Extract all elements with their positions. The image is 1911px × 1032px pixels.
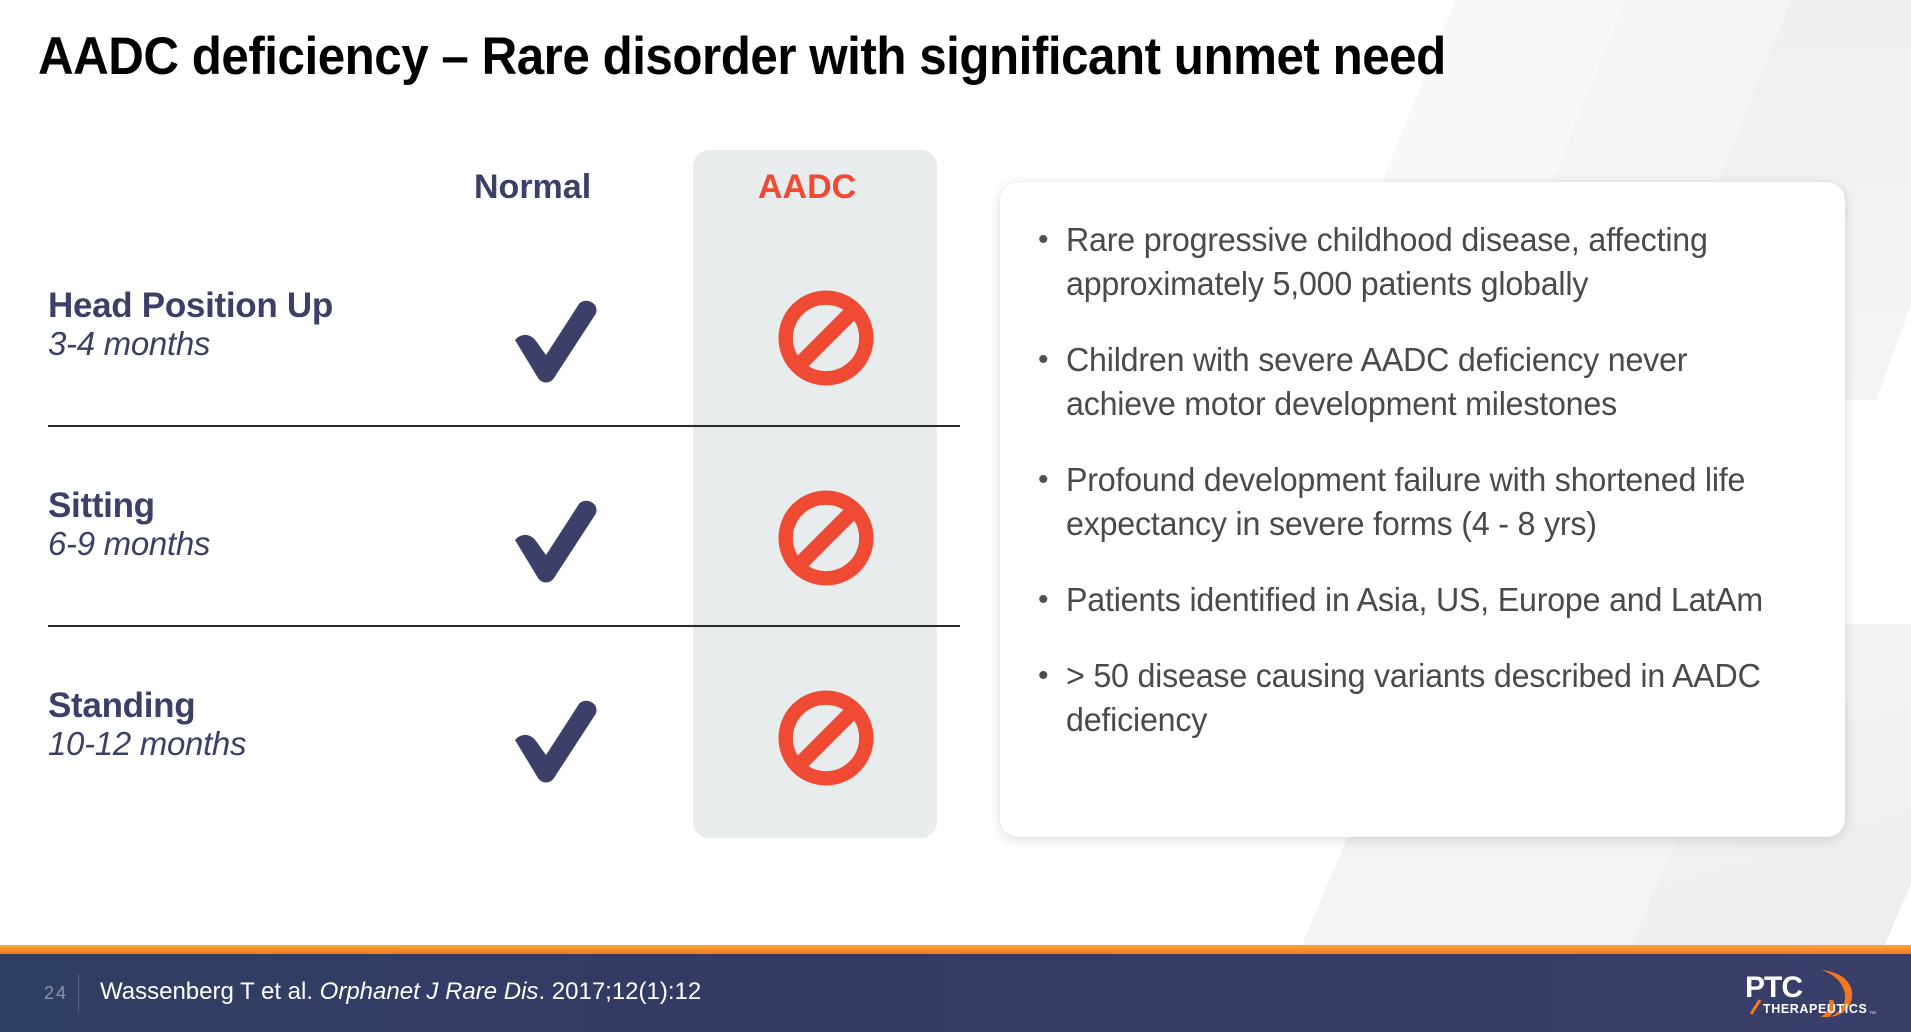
bullet-dot-icon: •: [1038, 338, 1066, 382]
bullet-dot-icon: •: [1038, 218, 1066, 262]
milestone-name: Sitting: [48, 486, 210, 525]
svg-text:™: ™: [1869, 1011, 1876, 1018]
row-divider: [48, 625, 960, 627]
milestone-age: 6-9 months: [48, 525, 210, 564]
row-label-group: Standing 10-12 months: [48, 686, 246, 764]
citation-authors: Wassenberg T et al.: [100, 978, 320, 1005]
milestone-table: Normal AADC Head Position Up 3-4 months …: [0, 150, 1000, 870]
slide-number: 24: [44, 983, 68, 1004]
bullet-text: Patients identified in Asia, US, Europe …: [1066, 578, 1763, 622]
orange-accent-bar: [0, 945, 1911, 954]
bullet-text: > 50 disease causing variants described …: [1066, 654, 1787, 742]
row-label-group: Sitting 6-9 months: [48, 486, 210, 564]
row-divider: [48, 425, 960, 427]
list-item: • Rare progressive childhood disease, af…: [1038, 218, 1805, 306]
citation-journal: Orphanet J Rare Dis: [320, 978, 539, 1005]
slide-title: AADC deficiency – Rare disorder with sig…: [38, 26, 1446, 87]
slide-number-separator: [78, 974, 79, 1012]
table-row: Sitting 6-9 months: [0, 438, 1000, 638]
bullet-text: Profound development failure with shorte…: [1066, 458, 1787, 546]
bullet-dot-icon: •: [1038, 654, 1066, 698]
bullet-list: • Rare progressive childhood disease, af…: [1038, 218, 1805, 742]
bullet-text: Rare progressive childhood disease, affe…: [1066, 218, 1787, 306]
ptc-therapeutics-logo: PTC THERAPEUTICS ™: [1729, 964, 1889, 1024]
milestone-age: 3-4 months: [48, 325, 333, 364]
table-row: Standing 10-12 months: [0, 638, 1000, 838]
milestone-name: Head Position Up: [48, 286, 333, 325]
column-header-normal: Normal: [474, 168, 591, 207]
row-label-group: Head Position Up 3-4 months: [48, 286, 333, 364]
milestone-name: Standing: [48, 686, 246, 725]
bullet-text: Children with severe AADC deficiency nev…: [1066, 338, 1787, 426]
list-item: • Patients identified in Asia, US, Europ…: [1038, 578, 1805, 622]
prohibition-icon: [778, 490, 874, 586]
check-icon: [505, 688, 605, 788]
bullet-dot-icon: •: [1038, 458, 1066, 502]
prohibition-icon: [778, 290, 874, 386]
list-item: • Children with severe AADC deficiency n…: [1038, 338, 1805, 426]
bullet-dot-icon: •: [1038, 578, 1066, 622]
slide-footer: 24 Wassenberg T et al. Orphanet J Rare D…: [0, 954, 1911, 1032]
svg-text:PTC: PTC: [1745, 971, 1802, 1004]
svg-text:THERAPEUTICS: THERAPEUTICS: [1763, 1002, 1867, 1016]
check-icon: [505, 288, 605, 388]
table-row: Head Position Up 3-4 months: [0, 238, 1000, 438]
citation: Wassenberg T et al. Orphanet J Rare Dis.…: [100, 978, 701, 1006]
prohibition-icon: [778, 690, 874, 786]
list-item: • Profound development failure with shor…: [1038, 458, 1805, 546]
milestone-age: 10-12 months: [48, 725, 246, 764]
key-facts-card: • Rare progressive childhood disease, af…: [1000, 182, 1845, 837]
citation-details: . 2017;12(1):12: [538, 978, 701, 1005]
column-header-aadc: AADC: [758, 168, 856, 207]
check-icon: [505, 488, 605, 588]
list-item: • > 50 disease causing variants describe…: [1038, 654, 1805, 742]
